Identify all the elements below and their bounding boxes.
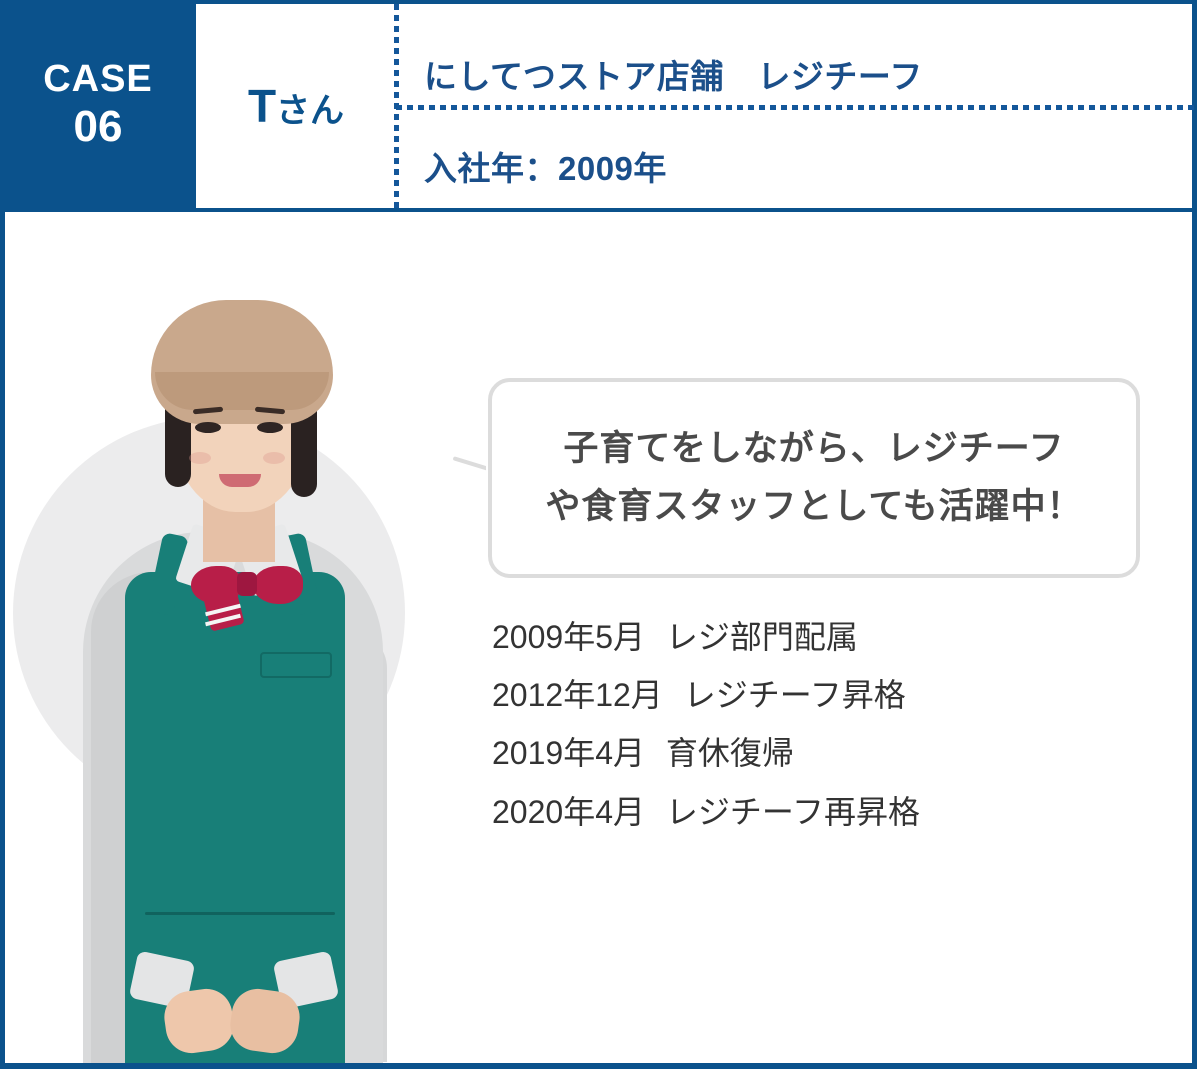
cheek-right (263, 452, 285, 464)
timeline-date: 2009年5月 (492, 619, 645, 655)
person-name: Tさん (248, 79, 344, 133)
employee-figure-illustration (5, 212, 475, 1063)
timeline-row: 2020年4月 レジチーフ再昇格 (492, 783, 1132, 841)
career-timeline: 2009年5月 レジ部門配属 2012年12月 レジチーフ昇格 2019年4月 … (492, 608, 1132, 841)
ribbon-lobe-right (253, 566, 303, 604)
case-badge: CASE 06 (0, 0, 196, 211)
apron-pocket (260, 652, 332, 678)
join-year-text: 入社年：2009年 (424, 142, 667, 190)
employee-photo (5, 212, 475, 1063)
mouth (219, 474, 261, 487)
cheek-left (189, 452, 211, 464)
eye-left (195, 422, 221, 433)
apron-seam (145, 912, 335, 915)
timeline-date: 2020年4月 (492, 794, 645, 830)
case-number: 06 (74, 102, 123, 153)
speech-bubble-line-2: や食育スタッフとしても活躍中！ (545, 478, 1082, 536)
person-initial: T (248, 80, 276, 132)
timeline-row: 2019年4月 育休復帰 (492, 724, 1132, 782)
timeline-date: 2012年12月 (492, 677, 663, 713)
employee-case-card: CASE 06 Tさん にしてつストア店舗 レジチーフ 入社年：2009年 (0, 0, 1197, 1069)
timeline-event: レジ部門配属 (666, 619, 858, 655)
timeline-event: レジチーフ昇格 (684, 677, 906, 713)
card-header: CASE 06 Tさん にしてつストア店舗 レジチーフ 入社年：2009年 (0, 0, 1197, 211)
timeline-date: 2019年4月 (492, 735, 645, 771)
timeline-row: 2009年5月 レジ部門配属 (492, 608, 1132, 666)
person-suffix: さん (276, 92, 344, 130)
header-horizontal-dotted-divider (396, 105, 1197, 110)
eye-right (257, 422, 283, 433)
ribbon-bow-tie (191, 564, 303, 610)
beret-cap-band (155, 372, 329, 410)
store-role-title: にしてつストア店舗 レジチーフ (424, 50, 923, 98)
card-border-bottom (0, 1063, 1197, 1069)
case-label: CASE (43, 58, 153, 102)
ribbon-knot (237, 572, 257, 596)
speech-bubble-line-1: 子育てをしながら、レジチーフ (563, 420, 1064, 478)
timeline-event: レジチーフ再昇格 (666, 794, 920, 830)
timeline-event: 育休復帰 (666, 735, 794, 771)
speech-bubble: 子育てをしながら、レジチーフ や食育スタッフとしても活躍中！ (488, 378, 1140, 578)
timeline-row: 2012年12月 レジチーフ昇格 (492, 666, 1132, 724)
person-name-block: Tさん (196, 0, 396, 211)
